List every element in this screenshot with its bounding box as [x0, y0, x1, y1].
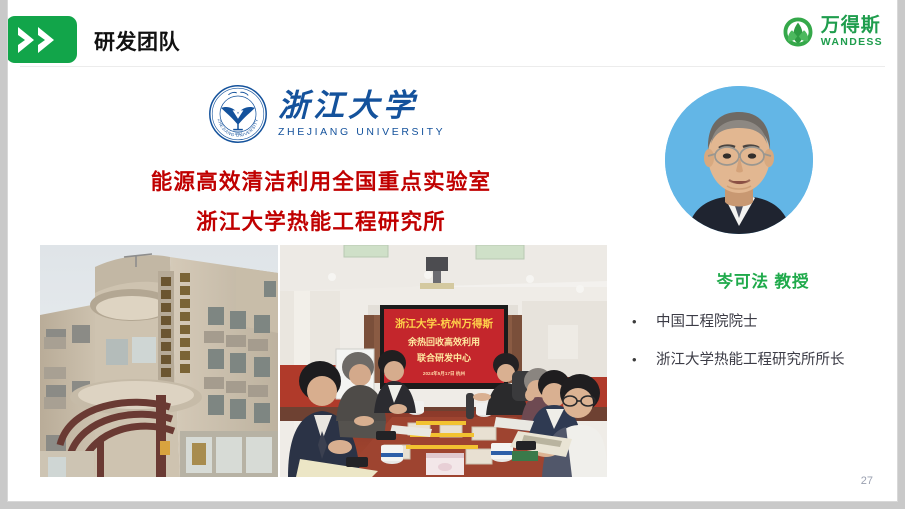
lab-name-line1: 能源高效清洁利用全国重点实验室 — [26, 165, 616, 196]
credentials-list: • 中国工程院院士 • 浙江大学热能工程研究所所长 — [630, 312, 892, 388]
wandess-leaf-icon — [781, 15, 815, 49]
lab-name-line2: 浙江大学热能工程研究所 — [26, 205, 616, 236]
list-item: • 中国工程院院士 — [630, 312, 892, 334]
slide-canvas: 研发团队 万得斯 WANDESS 1897 — [8, 0, 897, 501]
person-name: 岑可法 教授 — [638, 268, 888, 292]
university-name-en: ZHEJIANG UNIVERSITY — [278, 126, 445, 138]
photo-row: 浙江大学-杭州万得斯 余热回收高效利用 联合研发中心 2024年5月17日 杭州 — [40, 245, 607, 477]
slide-header: 研发团队 万得斯 WANDESS — [8, 0, 897, 67]
institute-building-photo — [40, 245, 278, 477]
bullet-icon: • — [630, 350, 656, 370]
joint-rd-center-meeting-photo: 浙江大学-杭州万得斯 余热回收高效利用 联合研发中心 2024年5月17日 杭州 — [280, 245, 607, 477]
brand-name-en: WANDESS — [821, 37, 883, 48]
header-divider — [20, 66, 885, 67]
brand-name-cn: 万得斯 — [821, 16, 883, 35]
credential-text: 中国工程院院士 — [656, 312, 758, 334]
svg-text:余热回收高效利用: 余热回收高效利用 — [407, 336, 480, 347]
credential-text: 浙江大学热能工程研究所所长 — [656, 350, 845, 372]
zhejiang-university-logo: 1897 ZHEJIANG UNIVERSITY 浙江大学 ZHEJIANG U… — [208, 82, 434, 146]
double-chevron-right-icon — [8, 16, 77, 63]
list-item: • 浙江大学热能工程研究所所长 — [630, 350, 892, 372]
svg-text:2024年5月17日 杭州: 2024年5月17日 杭州 — [423, 370, 466, 377]
bullet-icon: • — [630, 312, 656, 332]
svg-text:联合研发中心: 联合研发中心 — [417, 352, 471, 363]
university-name-cn: 浙江大学 — [278, 90, 445, 123]
page-title: 研发团队 — [94, 26, 180, 56]
wandess-brand-logo: 万得斯 WANDESS — [781, 12, 883, 52]
person-portrait — [665, 86, 813, 234]
svg-text:浙江大学-杭州万得斯: 浙江大学-杭州万得斯 — [395, 317, 493, 330]
page-number: 27 — [861, 475, 873, 487]
zhejiang-university-emblem-icon: 1897 ZHEJIANG UNIVERSITY — [208, 84, 268, 144]
